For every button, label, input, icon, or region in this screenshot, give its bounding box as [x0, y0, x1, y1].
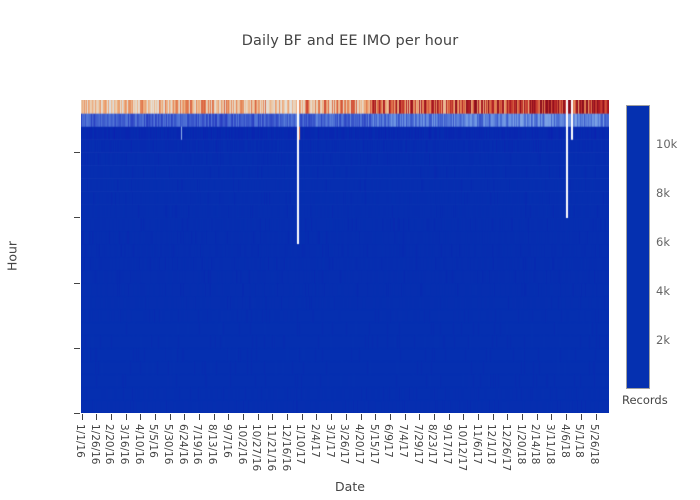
x-tick-mark	[522, 414, 523, 420]
x-tick-label: 5/5/16	[147, 424, 159, 458]
x-tick-label: 3/26/17	[338, 424, 350, 464]
colorbar[interactable]	[626, 105, 650, 389]
x-tick-mark	[140, 414, 141, 420]
x-tick-mark	[581, 414, 582, 420]
x-tick-label: 6/9/17	[382, 424, 394, 458]
x-tick-mark	[243, 414, 244, 420]
x-tick-mark	[346, 414, 347, 420]
x-tick-label: 11/21/16	[265, 424, 277, 471]
x-tick-mark	[375, 414, 376, 420]
y-tick-mark	[74, 413, 80, 414]
heatmap-figure: Daily BF and EE IMO per hour Hour Date R…	[0, 0, 700, 500]
x-tick-label: 1/20/18	[515, 424, 527, 464]
x-tick-mark	[228, 414, 229, 420]
y-tick-mark	[74, 217, 80, 218]
x-tick-label: 4/20/17	[353, 424, 365, 464]
x-tick-mark	[302, 414, 303, 420]
y-axis-title: Hour	[5, 241, 20, 271]
y-tick-mark	[74, 348, 80, 349]
x-tick-mark	[331, 414, 332, 420]
x-tick-label: 12/1/17	[485, 424, 497, 464]
x-tick-mark	[170, 414, 171, 420]
x-tick-label: 10/2/16	[236, 424, 248, 464]
x-tick-mark	[214, 414, 215, 420]
x-tick-label: 3/16/16	[118, 424, 130, 464]
x-tick-label: 12/26/17	[500, 424, 512, 471]
x-tick-label: 3/1/17	[324, 424, 336, 458]
x-tick-mark	[405, 414, 406, 420]
colorbar-tick-label: 2k	[656, 333, 670, 347]
x-tick-mark	[537, 414, 538, 420]
y-tick-mark	[74, 283, 80, 284]
colorbar-tick-label: 8k	[656, 186, 670, 200]
x-tick-label: 1/10/17	[294, 424, 306, 464]
x-tick-mark	[272, 414, 273, 420]
x-tick-mark	[566, 414, 567, 420]
x-tick-label: 9/7/16	[221, 424, 233, 458]
heatmap-plot-area[interactable]	[81, 100, 609, 413]
y-tick-mark	[74, 152, 80, 153]
x-tick-label: 12/16/16	[280, 424, 292, 471]
x-tick-label: 5/15/17	[368, 424, 380, 464]
x-tick-label: 8/23/17	[426, 424, 438, 464]
x-tick-label: 5/30/16	[162, 424, 174, 464]
x-tick-mark	[478, 414, 479, 420]
heatmap-image	[81, 100, 609, 413]
x-tick-label: 4/10/16	[133, 424, 145, 464]
x-tick-label: 2/4/17	[309, 424, 321, 458]
x-tick-mark	[155, 414, 156, 420]
colorbar-tick-label: 6k	[656, 235, 670, 249]
x-tick-mark	[596, 414, 597, 420]
x-tick-mark	[449, 414, 450, 420]
x-tick-mark	[390, 414, 391, 420]
x-tick-mark	[126, 414, 127, 420]
x-tick-label: 9/17/17	[441, 424, 453, 464]
x-tick-mark	[184, 414, 185, 420]
x-tick-mark	[82, 414, 83, 420]
x-tick-mark	[258, 414, 259, 420]
x-axis-title: Date	[0, 479, 700, 494]
x-tick-mark	[361, 414, 362, 420]
chart-title: Daily BF and EE IMO per hour	[0, 33, 700, 49]
x-tick-label: 10/12/17	[456, 424, 468, 471]
x-tick-mark	[287, 414, 288, 420]
x-tick-label: 5/26/18	[588, 424, 600, 464]
x-tick-mark	[434, 414, 435, 420]
colorbar-tick-label: 10k	[656, 137, 677, 151]
colorbar-tick-label: 4k	[656, 284, 670, 298]
x-tick-mark	[316, 414, 317, 420]
x-tick-label: 10/27/16	[250, 424, 262, 471]
x-tick-label: 6/24/16	[177, 424, 189, 464]
x-tick-label: 3/11/18	[544, 424, 556, 464]
x-tick-label: 1/1/16	[74, 424, 86, 458]
x-tick-label: 11/6/17	[471, 424, 483, 464]
x-tick-label: 7/19/16	[191, 424, 203, 464]
x-tick-mark	[111, 414, 112, 420]
x-tick-label: 2/20/16	[103, 424, 115, 464]
colorbar-gradient	[626, 105, 650, 389]
x-tick-label: 5/1/18	[573, 424, 585, 458]
x-tick-label: 7/4/17	[397, 424, 409, 458]
x-tick-label: 1/26/16	[89, 424, 101, 464]
x-tick-label: 2/14/18	[529, 424, 541, 464]
x-tick-mark	[96, 414, 97, 420]
colorbar-title: Records	[622, 393, 668, 407]
x-tick-mark	[507, 414, 508, 420]
x-tick-label: 7/29/17	[412, 424, 424, 464]
x-tick-mark	[493, 414, 494, 420]
x-tick-mark	[463, 414, 464, 420]
x-tick-label: 8/13/16	[206, 424, 218, 464]
x-tick-label: 4/6/18	[559, 424, 571, 458]
x-tick-mark	[199, 414, 200, 420]
x-tick-mark	[551, 414, 552, 420]
x-tick-mark	[419, 414, 420, 420]
